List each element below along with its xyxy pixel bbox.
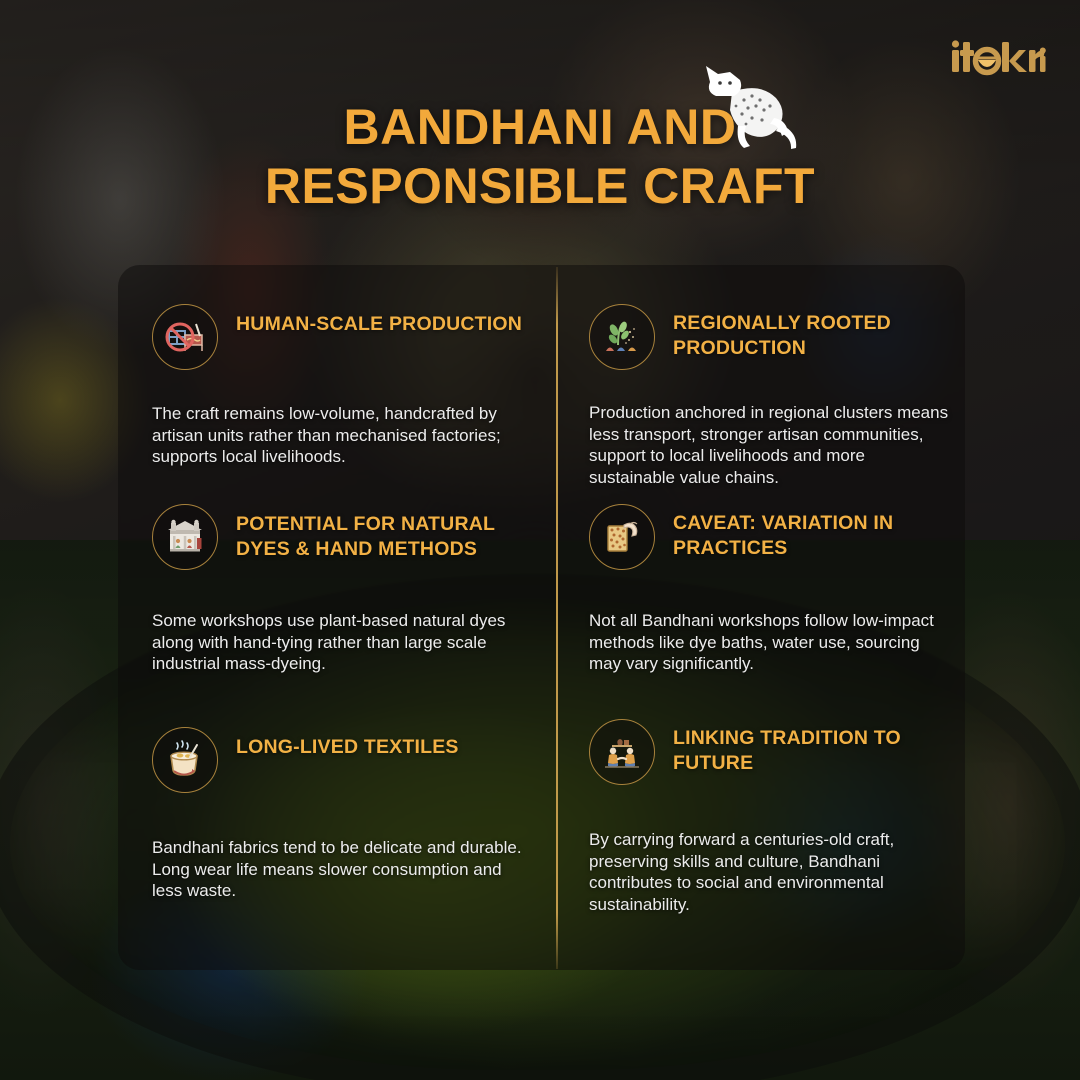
feature-title: CAVEAT: VARIATION IN PRACTICES bbox=[673, 504, 951, 560]
feature-title: LONG-LIVED TEXTILES bbox=[236, 727, 459, 760]
feature-title: HUMAN-SCALE PRODUCTION bbox=[236, 304, 522, 337]
feature-header: REGIONALLY ROOTED PRODUCTION bbox=[589, 304, 951, 370]
feature-title: POTENTIAL FOR NATURAL DYES & HAND METHOD… bbox=[236, 504, 532, 561]
poster-title-line-2: RESPONSIBLE CRAFT bbox=[0, 157, 1080, 216]
feature-body: The craft remains low-volume, handcrafte… bbox=[152, 403, 532, 468]
steaming-dye-pot-icon bbox=[152, 727, 218, 793]
infographic-poster: BANDHANI AND RESPONSIBLE CRAFT bbox=[0, 0, 1080, 1080]
plant-sprout-soil-icon bbox=[589, 304, 655, 370]
feature-body: Some workshops use plant-based natural d… bbox=[152, 610, 532, 675]
no-factory-icon bbox=[152, 304, 218, 370]
feature-item-natural-dyes-hand-methods: POTENTIAL FOR NATURAL DYES & HAND METHOD… bbox=[118, 465, 556, 675]
feature-title: LINKING TRADITION TO FUTURE bbox=[673, 719, 951, 775]
feature-title: REGIONALLY ROOTED PRODUCTION bbox=[673, 304, 951, 360]
hand-holding-patterned-fabric-icon bbox=[589, 504, 655, 570]
feature-header: POTENTIAL FOR NATURAL DYES & HAND METHOD… bbox=[152, 504, 532, 570]
feature-item-long-lived-textiles: LONG-LIVED TEXTILES Bandhani fabrics ten… bbox=[118, 675, 556, 970]
feature-body: Not all Bandhani workshops follow low-im… bbox=[589, 610, 951, 675]
artisan-workshop-building-icon bbox=[152, 504, 218, 570]
feature-item-linking-tradition-to-future: LINKING TRADITION TO FUTURE By carrying … bbox=[556, 675, 965, 970]
feature-body: By carrying forward a centuries-old craf… bbox=[589, 829, 951, 915]
feature-body: Bandhani fabrics tend to be delicate and… bbox=[152, 837, 532, 902]
feature-header: LONG-LIVED TEXTILES bbox=[152, 727, 532, 793]
feature-header: CAVEAT: VARIATION IN PRACTICES bbox=[589, 504, 951, 570]
feature-header: HUMAN-SCALE PRODUCTION bbox=[152, 304, 532, 370]
feature-item-regionally-rooted-production: REGIONALLY ROOTED PRODUCTION Production … bbox=[556, 265, 965, 465]
feature-grid: HUMAN-SCALE PRODUCTION The craft remains… bbox=[118, 265, 965, 970]
feature-item-caveat-variation-in-practices: CAVEAT: VARIATION IN PRACTICES Not all B… bbox=[556, 465, 965, 675]
feature-item-human-scale-production: HUMAN-SCALE PRODUCTION The craft remains… bbox=[118, 265, 556, 465]
two-seated-artisans-icon bbox=[589, 719, 655, 785]
itokri-logo[interactable] bbox=[950, 38, 1046, 78]
poster-title-line-1: BANDHANI AND bbox=[0, 98, 1080, 157]
feature-header: LINKING TRADITION TO FUTURE bbox=[589, 719, 951, 785]
poster-title: BANDHANI AND RESPONSIBLE CRAFT bbox=[0, 98, 1080, 216]
